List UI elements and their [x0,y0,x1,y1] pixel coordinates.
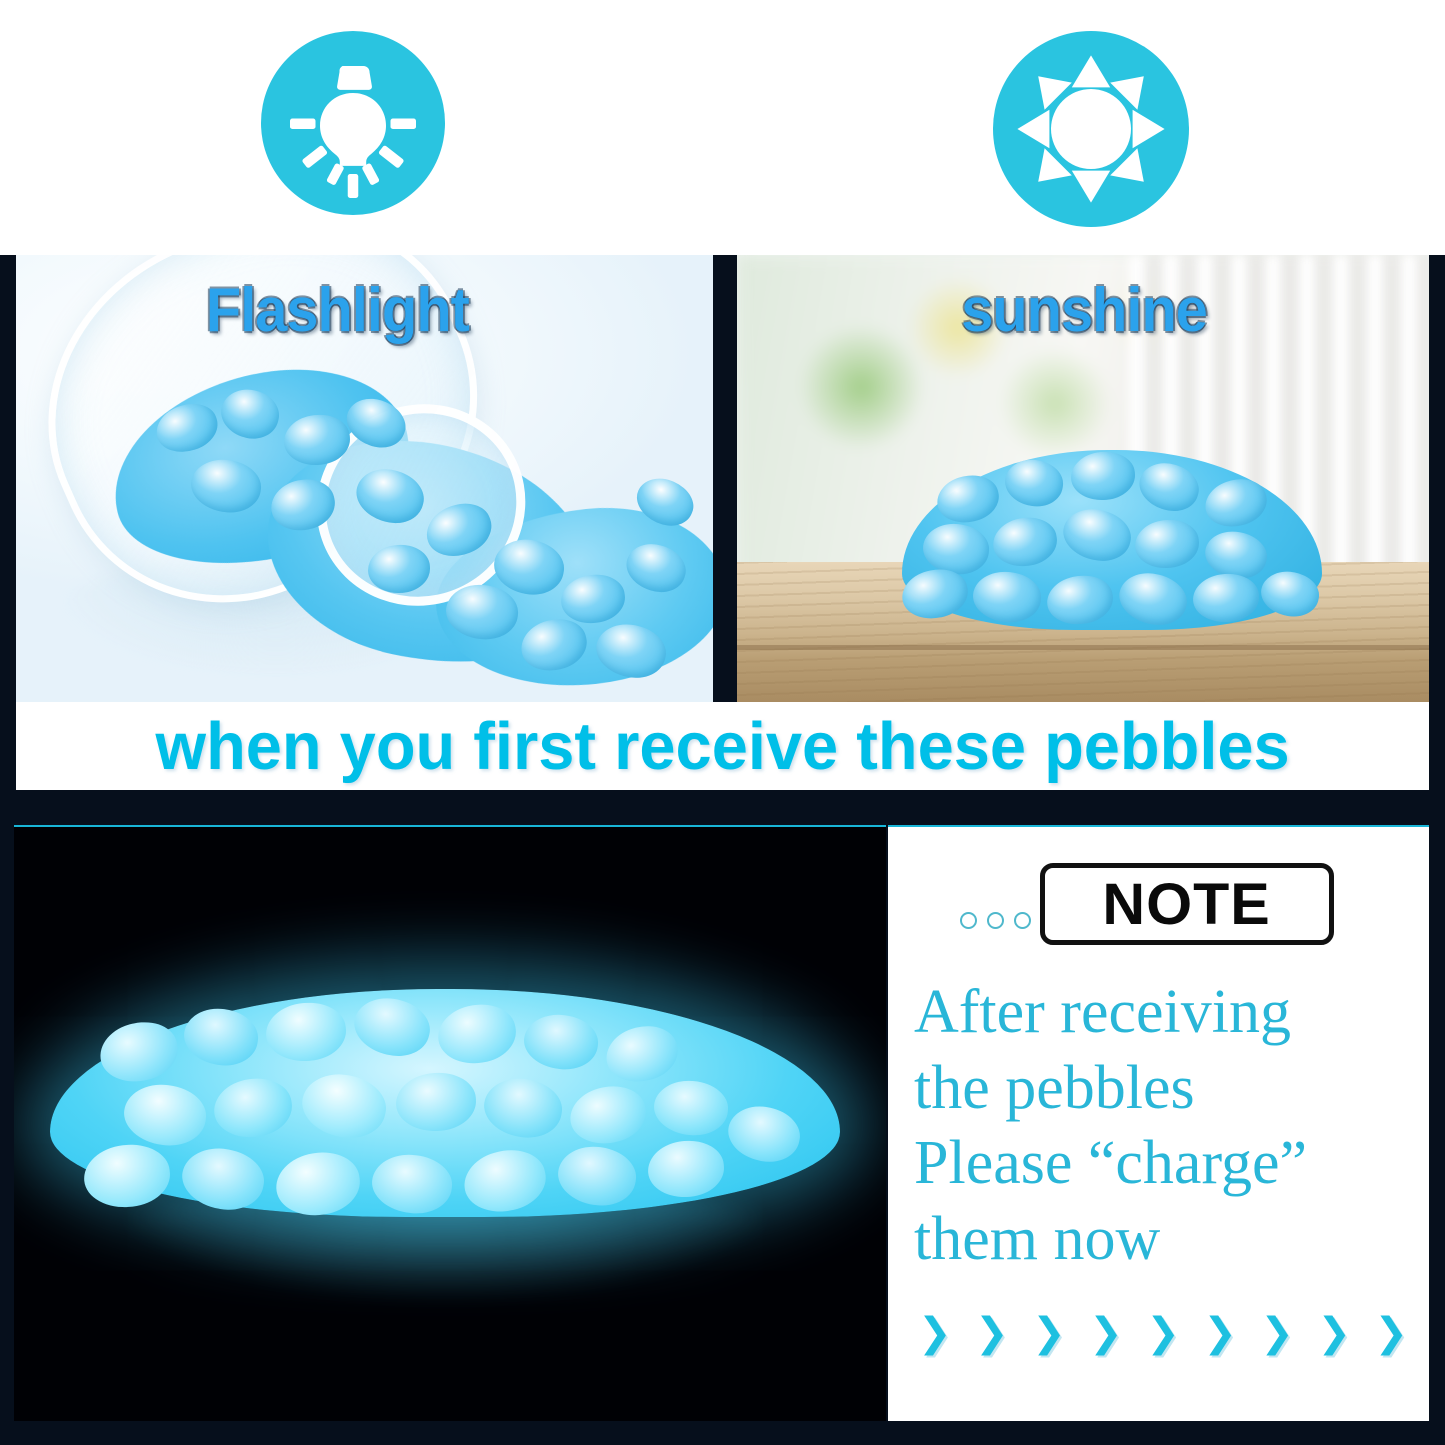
decorative-dots [960,912,1031,929]
icon-header-strip [0,0,1445,255]
note-line: them now [914,1202,1414,1278]
note-line: Please “charge” [914,1126,1414,1202]
wood-edge-line [737,645,1429,650]
photo-flashlight-pebbles: Flashlight [16,255,713,702]
chevron-right-icon: ❯ [1203,1313,1237,1353]
photo-glowing-pebbles [14,825,886,1421]
lightbulb-icon [261,31,445,215]
chevron-right-icon: ❯ [1374,1313,1408,1353]
chevron-right-icon: ❯ [1317,1313,1351,1353]
headline-banner: when you first receive these pebbles [16,702,1429,790]
top-photo-row: Flashlight sunshine [0,255,1445,702]
dot-icon [1014,912,1031,929]
dot-icon [960,912,977,929]
note-badge-label: NOTE [1103,871,1271,938]
chevron-right-icon: ❯ [1260,1313,1294,1353]
bottom-section: NOTE After receiving the pebbles Please … [0,820,1445,1424]
chevron-right-icon: ❯ [1146,1313,1180,1353]
chevron-right-icon: ❯ [918,1313,952,1353]
note-badge: NOTE [1040,863,1334,945]
note-line: the pebbles [914,1051,1414,1127]
sun-icon [993,31,1189,227]
chevron-right-icon: ❯ [1032,1313,1066,1353]
photo-sunshine-pebbles: sunshine [737,255,1429,702]
chevron-right-icon: ❯ [975,1313,1009,1353]
dot-icon [987,912,1004,929]
note-panel: NOTE After receiving the pebbles Please … [888,825,1429,1421]
headline-text: when you first receive these pebbles [155,708,1289,785]
photo-label-sunshine: sunshine [961,275,1207,346]
chevron-row: ❯ ❯ ❯ ❯ ❯ ❯ ❯ ❯ ❯ [918,1313,1408,1353]
note-line: After receiving [914,975,1414,1051]
chevron-right-icon: ❯ [1089,1313,1123,1353]
note-body-text: After receiving the pebbles Please “char… [914,975,1414,1278]
photo-label-flashlight: Flashlight [206,275,469,346]
